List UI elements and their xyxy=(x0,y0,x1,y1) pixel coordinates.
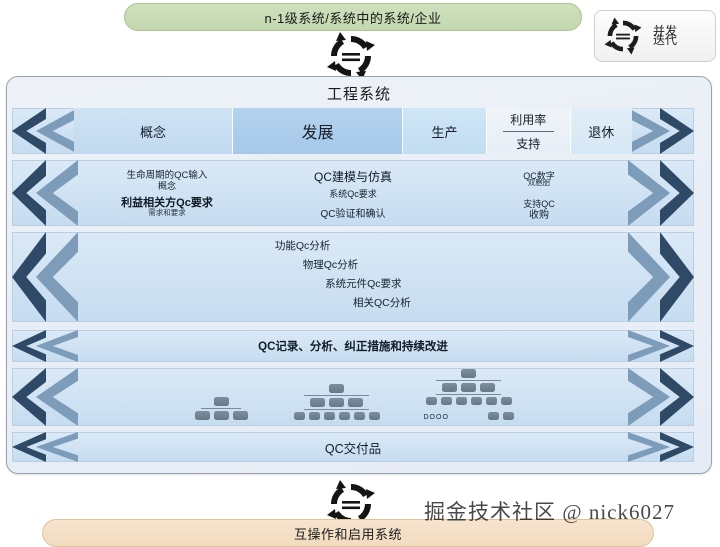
qc-analysis-line-3: 系统元件Qc要求 xyxy=(325,276,632,291)
chevron-right-icon xyxy=(628,108,694,154)
phase-concept[interactable]: 概念 xyxy=(74,108,233,154)
qc-deliverables-band: QC交付品 xyxy=(12,432,694,462)
tree-level xyxy=(294,412,380,420)
tree-node xyxy=(309,412,320,420)
hierarchy-tree-small xyxy=(195,392,248,420)
legend-text: 并发 迭代 xyxy=(649,19,701,53)
tree-node xyxy=(442,383,457,392)
bottom-banner-label: 互操作和启用系统 xyxy=(294,524,402,543)
qc-analysis-line-1: 功能Qc分析 xyxy=(275,238,632,253)
phase-development-label: 发展 xyxy=(302,119,334,143)
qc-right-line4: 收购 xyxy=(446,206,632,221)
tree-node xyxy=(501,397,512,405)
chevron-right-icon xyxy=(628,160,694,226)
qc-right-line2: 双胞胎 xyxy=(446,177,632,188)
tree-level xyxy=(426,383,512,392)
phase-production[interactable]: 生产 xyxy=(403,108,487,154)
tree-node xyxy=(348,398,363,407)
chevron-left-icon xyxy=(12,432,78,462)
tree-node xyxy=(294,412,305,420)
qc-requirements-columns: 生命周期的QC输入 概念 利益相关方Qc要求 需求和要求 QC建模与仿真 系统Q… xyxy=(74,160,632,226)
diagram-canvas: n-1级系统/系统中的系统/企业 并发 迭代 xyxy=(0,0,720,546)
phase-retirement-label: 退休 xyxy=(588,122,614,141)
tree-node xyxy=(214,397,229,406)
hierarchy-tree-large: DOOO xyxy=(426,364,512,420)
top-banner-label: n-1级系统/系统中的系统/企业 xyxy=(264,8,441,27)
tree-node xyxy=(354,412,365,420)
tree-node xyxy=(488,412,499,420)
qc-records-label: QC记录、分析、纠正措施和持续改进 xyxy=(74,330,632,362)
qc-records-band: QC记录、分析、纠正措施和持续改进 xyxy=(12,330,694,362)
phase-retirement[interactable]: 退休 xyxy=(571,108,632,154)
qc-column-right: QC数字 双胞胎 支持QC 收购 xyxy=(446,160,632,226)
tree-node xyxy=(310,398,325,407)
tree-node xyxy=(233,411,248,420)
tree-connector xyxy=(201,408,241,409)
tree-node xyxy=(486,397,497,405)
qc-column-left: 生命周期的QC输入 概念 利益相关方Qc要求 需求和要求 xyxy=(74,160,260,226)
qc-requirements-band: 生命周期的QC输入 概念 利益相关方Qc要求 需求和要求 QC建模与仿真 系统Q… xyxy=(12,160,694,226)
chevron-left-icon xyxy=(12,160,78,226)
tree-node xyxy=(456,397,467,405)
legend-label-iterative: 迭代 xyxy=(653,31,677,48)
tree-node xyxy=(329,384,344,393)
phase-concept-label: 概念 xyxy=(140,122,166,141)
tree-node xyxy=(461,383,476,392)
chevron-left-icon xyxy=(12,368,78,426)
phase-divider xyxy=(503,131,554,132)
cycle-icon xyxy=(603,16,643,56)
tree-node xyxy=(461,369,476,378)
tree-level-extra: DOOO xyxy=(426,410,512,420)
phase-production-label: 生产 xyxy=(432,122,458,141)
phase-utilization-label: 利用率 xyxy=(510,111,546,128)
phase-utilization-support[interactable]: 利用率 支持 xyxy=(487,108,571,154)
tree-node xyxy=(441,397,452,405)
chevron-right-icon xyxy=(628,432,694,462)
tree-level xyxy=(426,397,512,405)
chevron-right-icon xyxy=(628,232,694,322)
tree-node xyxy=(471,397,482,405)
legend-chip: 并发 迭代 xyxy=(594,10,716,62)
tree-level xyxy=(195,411,248,420)
chevron-left-icon xyxy=(12,330,78,362)
phase-development[interactable]: 发展 xyxy=(233,108,403,154)
hierarchy-tree-medium xyxy=(294,379,380,420)
qc-analysis-cascade: 功能Qc分析 物理Qc分析 系统元件Qc要求 相关QC分析 xyxy=(74,238,632,310)
tree-level xyxy=(294,384,380,393)
qc-right-overlap-1: QC数字 双胞胎 xyxy=(446,169,632,185)
tree-node xyxy=(214,411,229,420)
cycle-icon-top-wrapper xyxy=(325,30,377,82)
tree-connector xyxy=(436,394,501,395)
tree-connector xyxy=(304,409,369,410)
phase-list: 概念 发展 生产 利用率 支持 退休 xyxy=(74,108,632,154)
lifecycle-phase-band: 概念 发展 生产 利用率 支持 退休 xyxy=(12,108,694,154)
qc-column-middle: QC建模与仿真 系统Qc要求 QC验证和确认 xyxy=(260,160,446,226)
panel-title: 工程系统 xyxy=(7,83,711,104)
tree-extra-nodes xyxy=(488,412,514,420)
qc-left-line2: 概念 xyxy=(74,179,260,192)
tree-level xyxy=(195,397,248,406)
qc-middle-line2: 系统Qc要求 xyxy=(260,187,446,200)
tree-level xyxy=(426,369,512,378)
tree-label: DOOO xyxy=(424,414,449,421)
qc-analysis-line-2: 物理Qc分析 xyxy=(303,257,632,272)
chevron-left-icon xyxy=(12,108,78,154)
top-banner: n-1级系统/系统中的系统/企业 xyxy=(124,3,582,31)
tree-node xyxy=(503,412,514,420)
qc-analysis-line-4: 相关QC分析 xyxy=(353,295,632,310)
qc-middle-line3: QC验证和确认 xyxy=(260,205,446,220)
qc-analysis-band: 功能Qc分析 物理Qc分析 系统元件Qc要求 相关QC分析 xyxy=(12,232,694,322)
chevron-left-icon xyxy=(12,232,78,322)
tree-level xyxy=(294,398,380,407)
watermark: 掘金技术社区 @ nick6027 xyxy=(424,496,675,526)
tree-node xyxy=(426,397,437,405)
qc-left-line4: 需求和要求 xyxy=(74,207,260,218)
hierarchy-tree-list: DOOO xyxy=(74,368,632,426)
tree-node xyxy=(195,411,210,420)
chevron-right-icon xyxy=(628,368,694,426)
hierarchy-band: DOOO xyxy=(12,368,694,426)
cycle-icon xyxy=(325,30,377,82)
tree-node xyxy=(480,383,495,392)
qc-right-overlap-2: 支持QC 收购 xyxy=(446,197,632,213)
qc-deliverables-label: QC交付品 xyxy=(74,432,632,462)
tree-connector xyxy=(304,395,369,396)
tree-node xyxy=(329,398,344,407)
tree-node xyxy=(369,412,380,420)
tree-node xyxy=(324,412,335,420)
tree-connector xyxy=(436,380,501,381)
tree-node xyxy=(339,412,350,420)
phase-support-label: 支持 xyxy=(516,135,540,152)
qc-middle-line1: QC建模与仿真 xyxy=(260,168,446,185)
chevron-right-icon xyxy=(628,330,694,362)
